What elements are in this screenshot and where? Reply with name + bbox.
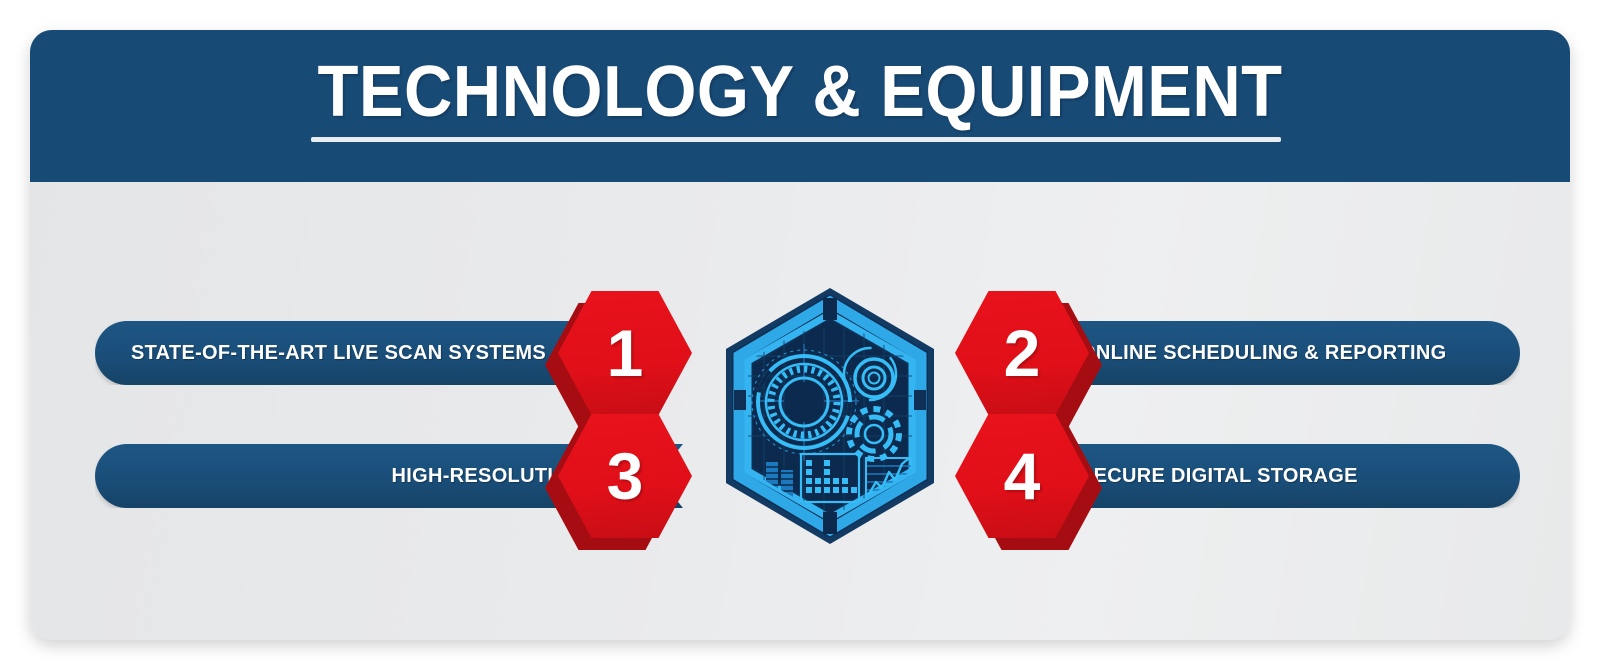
number-label-3: 3 [607, 443, 644, 509]
number-label-4: 4 [1004, 443, 1041, 509]
item-bar-2[interactable]: ONLINE SCHEDULING & REPORTING [1030, 321, 1520, 385]
number-badge-2[interactable]: 2 [955, 291, 1089, 415]
infographic-card: TECHNOLOGY & EQUIPMENT STATE-OF-THE-ART … [30, 30, 1570, 640]
item-label-1: STATE-OF-THE-ART LIVE SCAN SYSTEMS [131, 342, 546, 365]
number-label-2: 2 [1004, 320, 1041, 386]
title-underline [311, 137, 1281, 142]
content-stage: STATE-OF-THE-ART LIVE SCAN SYSTEMS ONLIN… [30, 182, 1570, 640]
number-badge-1[interactable]: 1 [558, 291, 692, 415]
header-banner: TECHNOLOGY & EQUIPMENT [30, 30, 1570, 182]
page-title: TECHNOLOGY & EQUIPMENT [84, 56, 1516, 128]
number-label-1: 1 [607, 320, 644, 386]
item-bar-4[interactable]: SECURE DIGITAL STORAGE [1030, 444, 1520, 508]
item-label-2: ONLINE SCHEDULING & REPORTING [1080, 342, 1447, 365]
number-badge-4[interactable]: 4 [955, 414, 1089, 538]
technology-hexagon-hud-icon [704, 286, 956, 546]
item-label-4: SECURE DIGITAL STORAGE [1080, 465, 1358, 488]
number-badge-3[interactable]: 3 [558, 414, 692, 538]
